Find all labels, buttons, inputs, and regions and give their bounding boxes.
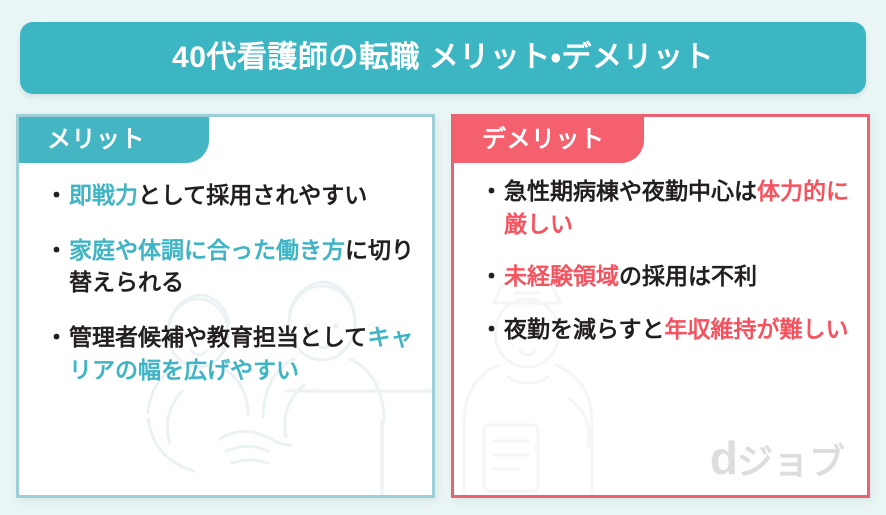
card-demerits: デメリット (451, 114, 870, 498)
list-item-text: 家庭や体調に合った働き方に切り替えられる (69, 234, 414, 299)
brand-logo-mark: d (710, 435, 737, 481)
brand-logo: d ジョブ (710, 435, 845, 481)
bullet-marker: ・ (45, 321, 68, 354)
text-segment-accent: 年収維持が難しい (665, 316, 849, 342)
list-item-text: 管理者候補や教育担当としてキャリアの幅を広げやすい (69, 321, 414, 386)
bullet-marker: ・ (480, 175, 503, 208)
brand-logo-text: ジョブ (737, 444, 845, 480)
list-item: ・ 家庭や体調に合った働き方に切り替えられる (45, 234, 414, 299)
text-segment-plain: として採用されやすい (138, 182, 367, 208)
bullet-marker: ・ (480, 260, 503, 293)
list-item: ・ 夜勤を減らすと年収維持が難しい (480, 313, 849, 346)
list-item: ・ 即戦力として採用されやすい (45, 179, 414, 212)
card-merits-bullet-list: ・ 即戦力として採用されやすい ・ 家庭や体調に合った働き方に切り替えられる ・… (19, 179, 432, 404)
text-segment-plain: 管理者候補や教育担当として (69, 324, 367, 350)
card-merits-tab-label: メリット (47, 128, 145, 152)
list-item: ・ 急性期病棟や夜勤中心は体力的に厳しい (480, 175, 849, 240)
card-demerits-tab-label: デメリット (482, 128, 605, 152)
list-item: ・ 未経験領域の採用は不利 (480, 260, 849, 293)
text-segment-plain: 夜勤を減らすと (504, 316, 665, 342)
list-item-text: 夜勤を減らすと年収維持が難しい (504, 313, 849, 346)
bullet-marker: ・ (45, 179, 68, 212)
bullet-marker: ・ (480, 313, 503, 346)
text-segment-accent: 未経験領域 (504, 263, 619, 289)
text-segment-plain: の採用は不利 (619, 263, 757, 289)
list-item-text: 急性期病棟や夜勤中心は体力的に厳しい (504, 175, 849, 240)
card-merits: メリット (16, 114, 435, 498)
text-segment-accent: 即戦力 (69, 182, 138, 208)
list-item: ・ 管理者候補や教育担当としてキャリアの幅を広げやすい (45, 321, 414, 386)
card-demerits-bullet-list: ・ 急性期病棟や夜勤中心は体力的に厳しい ・ 未経験領域の採用は不利 ・ 夜勤を… (454, 175, 867, 366)
infographic-root: 40代看護師の転職 メリット・デメリット メリット (0, 0, 886, 515)
cards-container: メリット (0, 114, 886, 515)
text-segment-plain: 急性期病棟や夜勤中心は (504, 178, 757, 204)
page-title: 40代看護師の転職 メリット・デメリット (172, 43, 714, 73)
header-banner: 40代看護師の転職 メリット・デメリット (20, 22, 866, 94)
list-item-text: 未経験領域の採用は不利 (504, 260, 849, 293)
card-demerits-tab: デメリット (454, 117, 644, 163)
text-segment-accent: 家庭や体調に合った働き方 (69, 237, 345, 263)
card-merits-tab: メリット (19, 117, 209, 163)
list-item-text: 即戦力として採用されやすい (69, 179, 414, 212)
bullet-marker: ・ (45, 234, 68, 267)
